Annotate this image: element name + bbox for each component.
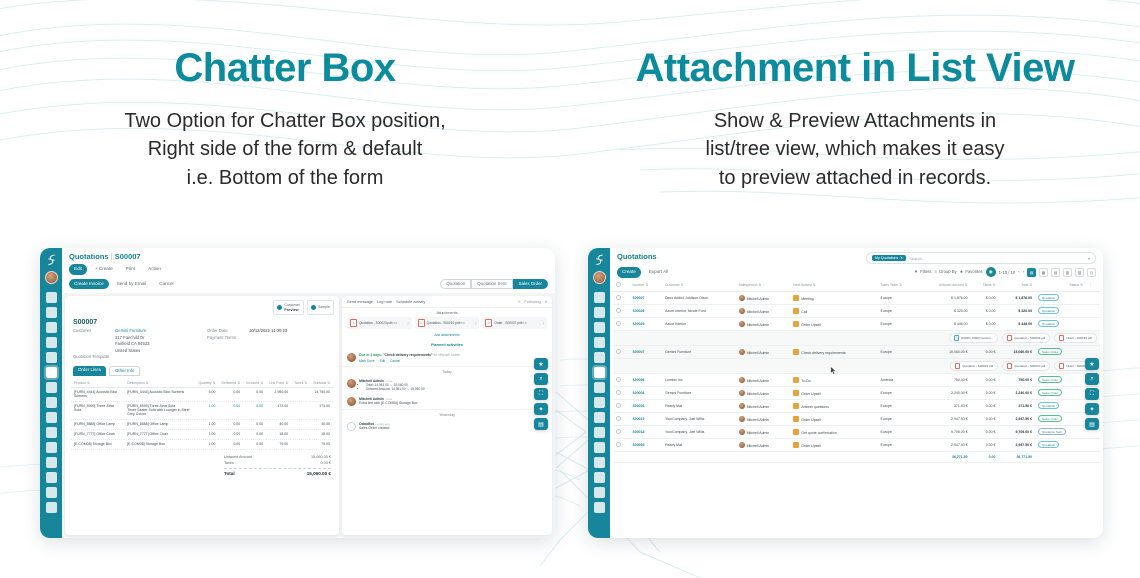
cell-untaxed-amount[interactable]: 2,947.50 € bbox=[918, 438, 970, 451]
cell-untaxed-amount[interactable]: 371.50 € bbox=[918, 399, 970, 412]
download-icon[interactable]: ⤓ bbox=[475, 321, 476, 325]
cell-invoiced[interactable]: 0.00 bbox=[243, 429, 266, 439]
stage-quotation-sent[interactable]: Quotation Sent bbox=[471, 279, 512, 289]
cell-sales-team[interactable]: Europe bbox=[877, 399, 918, 412]
heading-attachment-list-view: Attachment in List View Show & Preview A… bbox=[570, 0, 1140, 230]
cell-description[interactable]: [FURN_7777] Office Chair bbox=[124, 429, 195, 439]
create-button[interactable]: + Create bbox=[90, 264, 118, 275]
cell-next-activity[interactable]: Meeting bbox=[790, 291, 877, 304]
apps-icon[interactable]: ▤ bbox=[1085, 418, 1099, 430]
field-value[interactable]: Gemini Furniture bbox=[115, 328, 146, 333]
avatar[interactable] bbox=[45, 271, 58, 284]
avatar bbox=[739, 429, 745, 435]
cell-taxes[interactable]: 0.00 € bbox=[971, 386, 999, 399]
cell-salesperson[interactable]: Mitchell Admin bbox=[736, 399, 791, 412]
sidebar-item-sales[interactable] bbox=[46, 367, 57, 378]
cell-total[interactable]: 2,947.50 € bbox=[998, 412, 1035, 425]
cell-taxes[interactable]: 0.00 € bbox=[971, 399, 999, 412]
sidebar-item-manufacturing[interactable] bbox=[594, 412, 605, 423]
search-facet[interactable]: My Quotations ✕ bbox=[872, 255, 906, 261]
column-header-taxes[interactable]: Taxes ⇅ bbox=[291, 379, 310, 388]
cell-salesperson[interactable]: Mitchell Admin bbox=[736, 317, 791, 330]
cell-next-activity[interactable]: Call bbox=[790, 304, 877, 317]
cell-taxes[interactable] bbox=[291, 387, 310, 401]
cell-total[interactable]: $ 446.00 bbox=[998, 317, 1035, 330]
field-address-2: Fairfield CA 94533 bbox=[73, 341, 197, 346]
column-header-description[interactable]: Description ⇅ bbox=[124, 379, 195, 388]
cell-customer[interactable]: YourCompany, Joel Willis bbox=[662, 412, 736, 425]
field-quotation-template: Quotation Template bbox=[73, 354, 197, 359]
row-checkbox[interactable] bbox=[613, 399, 629, 412]
activity-icon bbox=[793, 377, 799, 383]
cell-next-activity[interactable]: To-Do bbox=[790, 373, 877, 386]
field-value[interactable]: 10/12/2022 11:00:23 bbox=[249, 328, 287, 333]
chatter-panel: Send message Log note Schedule activity … bbox=[342, 296, 552, 535]
cell-invoiced[interactable]: 0.00 bbox=[243, 439, 266, 449]
cell-salesperson[interactable]: Mitchell Admin bbox=[736, 425, 791, 438]
send-message-button[interactable]: Send message bbox=[347, 299, 373, 304]
graph-view-icon[interactable]: ▨ bbox=[1075, 268, 1084, 277]
cell-status[interactable]: Quotation bbox=[1035, 317, 1086, 330]
list-view-icon[interactable]: ▤ bbox=[1027, 268, 1036, 277]
column-header-status[interactable]: Status ⇅ bbox=[1035, 280, 1086, 292]
table-row[interactable]: [FURN_4444] Acoustic Bloc Screens[FURN_4… bbox=[71, 387, 333, 401]
status-badge: Quotation bbox=[1038, 402, 1059, 409]
cell-delivered[interactable]: 0.00 bbox=[218, 429, 243, 439]
sidebar-item-website[interactable] bbox=[594, 442, 605, 453]
column-header-salesperson[interactable]: Salesperson ⇅ bbox=[736, 280, 791, 292]
cell-untaxed-amount[interactable]: $ 1,876.00 bbox=[918, 291, 970, 304]
cell-sales-team[interactable]: Europe bbox=[877, 425, 918, 438]
search-icon[interactable]: ⌕ bbox=[534, 373, 548, 385]
column-header-taxes[interactable]: Taxes ⇅ bbox=[971, 280, 999, 292]
sidebar-item-purchase[interactable] bbox=[594, 427, 605, 438]
cell-product[interactable]: [FURN_7777] Office Chair bbox=[71, 429, 124, 439]
cell-invoiced[interactable]: 0.00 bbox=[243, 387, 266, 401]
attachment-chip[interactable]: [FURN_0096] Custom... bbox=[949, 333, 998, 343]
table-row[interactable]: S00025Azure InteriorMitchell AdminOrder … bbox=[613, 317, 1100, 330]
cell-status[interactable]: Quotation bbox=[1035, 304, 1086, 317]
cell-taxes[interactable] bbox=[291, 401, 310, 419]
sidebar-item-manufacturing[interactable] bbox=[46, 412, 57, 423]
activity-icon bbox=[793, 295, 799, 301]
app-sidebar-right[interactable] bbox=[588, 248, 610, 538]
table-row[interactable]: S00004Gemini FurnitureMitchell AdminOrde… bbox=[613, 386, 1100, 399]
favorites-button[interactable]: ★Favorites bbox=[960, 270, 983, 274]
sidebar-item-purchase[interactable] bbox=[46, 427, 57, 438]
cell-unit_price[interactable]: 173.00 bbox=[266, 401, 291, 419]
send-by-email-button[interactable]: Send by Email bbox=[112, 279, 152, 290]
cell-untaxed-amount[interactable]: 2,240.00 € bbox=[918, 386, 970, 399]
sidebar-item-calendar[interactable] bbox=[594, 322, 605, 333]
cell-untaxed-amount[interactable]: $ 320.00 bbox=[918, 304, 970, 317]
sidebar-item-invoicing[interactable] bbox=[46, 382, 57, 393]
cell-taxes[interactable]: 0.00 € bbox=[971, 425, 999, 438]
sidebar-item-discuss[interactable] bbox=[46, 307, 57, 318]
cell-product[interactable]: [FURN_4444] Acoustic Bloc Screens bbox=[71, 387, 124, 401]
create-invoice-button[interactable]: Create Invoice bbox=[69, 279, 109, 290]
cell-total[interactable]: $ 1,876.00 bbox=[998, 291, 1035, 304]
cell-customer[interactable]: Ready Mat bbox=[662, 438, 736, 451]
cell-invoiced[interactable]: 0.00 bbox=[243, 401, 266, 419]
table-row[interactable]: [FURN_8999] Three-Seat Sofa[FURN_8999] T… bbox=[71, 401, 333, 419]
pdf-icon bbox=[1007, 363, 1012, 369]
cell-total[interactable]: 15,060.00 € bbox=[998, 345, 1035, 358]
settings-icon[interactable]: ✦ bbox=[1085, 403, 1099, 415]
tab-order-lines[interactable]: Order Lines bbox=[73, 366, 106, 376]
sidebar-item-invoicing[interactable] bbox=[594, 382, 605, 393]
table-row[interactable]: [FURN_7777] Office Chair[FURN_7777] Offi… bbox=[71, 429, 333, 439]
cell-sales-team[interactable]: Europe bbox=[877, 291, 918, 304]
cell-number[interactable]: S00004 bbox=[629, 386, 662, 399]
settings-icon[interactable]: ✦ bbox=[534, 403, 548, 415]
cell-status[interactable]: Quotation bbox=[1035, 291, 1086, 304]
column-header-number[interactable]: Number ⇅ bbox=[629, 280, 662, 292]
schedule-activity-button[interactable]: Schedule activity bbox=[396, 299, 425, 304]
smart-button-label-2: Sample bbox=[318, 305, 330, 309]
pivot-view-icon[interactable]: ▥ bbox=[1063, 268, 1072, 277]
cell-product[interactable]: [E-COM08] Storage Box bbox=[71, 439, 124, 449]
table-row[interactable]: S00005Ready MatMitchell AdminOrder Upsel… bbox=[613, 438, 1100, 451]
attachment-item[interactable]: AQuotation - S00023.pdfPDF⤓ bbox=[347, 317, 412, 329]
cell-delivered[interactable]: 0.00 bbox=[218, 439, 243, 449]
cell-customer[interactable]: Gemini Furniture bbox=[662, 386, 736, 399]
sidebar-item-recruitment[interactable] bbox=[46, 472, 57, 483]
table-row[interactable]: S00003Ready MatMitchell AdminAnswer ques… bbox=[613, 399, 1100, 412]
cell-status[interactable]: Quotation bbox=[1035, 399, 1086, 412]
cell-salesperson[interactable]: Mitchell Admin bbox=[736, 373, 791, 386]
expand-icon[interactable]: ⛶ bbox=[534, 388, 548, 400]
cell-total[interactable]: 2,240.00 € bbox=[998, 386, 1035, 399]
cell-unit_price[interactable]: 79.00 bbox=[266, 439, 291, 449]
attachment-chip[interactable]: Quotation - S00023.pdf bbox=[950, 361, 998, 371]
field-label: Order Date bbox=[207, 328, 249, 333]
cell-customer[interactable]: YourCompany, Joel Willis bbox=[662, 425, 736, 438]
cell-next-activity[interactable]: Order Upsell bbox=[790, 438, 877, 451]
cell-quantity[interactable]: 5.00 bbox=[195, 387, 218, 401]
cell-number[interactable]: S00007 bbox=[629, 291, 662, 304]
cell-taxes[interactable]: $ 0.00 bbox=[971, 317, 999, 330]
sidebar-item-sales[interactable] bbox=[594, 367, 605, 378]
list-control-panel: Quotations My Quotations ✕ Search... ▾ C… bbox=[610, 248, 1103, 278]
cell-total[interactable]: 9,705.00 € bbox=[998, 425, 1035, 438]
form-notebook-tabs: Order Lines Other Info bbox=[65, 361, 339, 376]
cell-salesperson[interactable]: Mitchell Admin bbox=[736, 345, 791, 358]
sidebar-item-contacts[interactable] bbox=[594, 337, 605, 348]
following-button[interactable]: Following bbox=[524, 299, 540, 304]
export-all-button[interactable]: Export All bbox=[644, 267, 673, 278]
cell-number[interactable]: S00018 bbox=[629, 425, 662, 438]
chevron-down-icon[interactable]: ▾ bbox=[1088, 256, 1090, 261]
cell-number[interactable]: S00003 bbox=[629, 399, 662, 412]
attachment-chip-list: [FURN_0096] Custom...Quotation - S00023.… bbox=[616, 333, 1097, 343]
breadcrumb: Quotations | S00007 bbox=[69, 252, 548, 261]
cell-invoiced[interactable]: 0.00 bbox=[243, 419, 266, 429]
row-checkbox[interactable] bbox=[613, 291, 629, 304]
row-checkbox[interactable] bbox=[613, 304, 629, 317]
message-text: Sales Order created bbox=[359, 426, 390, 430]
row-checkbox[interactable] bbox=[613, 386, 629, 399]
sidebar-item-messages[interactable] bbox=[594, 292, 605, 303]
total-grand: Total 15,060.00 € bbox=[224, 468, 331, 477]
smart-button-row: Customer Preview Sample bbox=[65, 296, 339, 315]
table-row[interactable]: S00007Gemini FurnitureMitchell AdminChec… bbox=[613, 345, 1100, 358]
column-header-total[interactable]: Total ⇅ bbox=[998, 280, 1035, 292]
cell-unit_price[interactable]: 40.00 bbox=[266, 419, 291, 429]
table-row[interactable]: [E-COM08] Storage Box[E-COM08] Storage B… bbox=[71, 439, 333, 449]
cell-unit_price[interactable]: 18.00 bbox=[266, 429, 291, 439]
table-row[interactable]: S00026Azure Interior, Nicole FordMitchel… bbox=[613, 304, 1100, 317]
table-row[interactable]: S00007Deco Addict, Addison OlsonMitchell… bbox=[613, 291, 1100, 304]
sidebar-item-apps[interactable] bbox=[46, 487, 57, 498]
cell-total[interactable]: $ 320.00 bbox=[998, 304, 1035, 317]
cell-next-activity[interactable]: Order Upsell bbox=[790, 317, 877, 330]
sidebar-item-employees[interactable] bbox=[46, 457, 57, 468]
create-button[interactable]: Create bbox=[617, 267, 641, 278]
section-yesterday: Yesterday bbox=[342, 409, 552, 419]
cell-product[interactable]: [FURN_8999] Three-Seat Sofa bbox=[71, 401, 124, 419]
close-icon[interactable]: ✕ bbox=[900, 256, 903, 260]
cell-description[interactable]: [FURN_4444] Acoustic Bloc Screens bbox=[124, 387, 195, 401]
cell-product[interactable]: [FURN_8888] Office Lamp bbox=[71, 419, 124, 429]
cell-subtotal[interactable]: 79.00 bbox=[310, 439, 333, 449]
row-checkbox[interactable] bbox=[613, 317, 629, 330]
sidebar-item-contacts[interactable] bbox=[46, 337, 57, 348]
cell-taxes[interactable] bbox=[291, 419, 310, 429]
page-subtitle-left: Two Option for Chatter Box position, Rig… bbox=[0, 107, 570, 192]
column-header-customer[interactable]: Customer ⇅ bbox=[662, 280, 736, 292]
order-lines-table-wrap: Product ⇅Description ⇅Quantity ⇅Delivere… bbox=[65, 376, 339, 450]
star-icon[interactable]: ★ bbox=[534, 358, 548, 370]
table-row[interactable]: S00006Lumber IncMitchell AdminTo-DoAmeri… bbox=[613, 373, 1100, 386]
attachment-chip[interactable]: Quotation - S00010.pdf bbox=[1002, 361, 1050, 371]
pager-previous-button[interactable]: ‹ bbox=[1018, 270, 1019, 274]
star-icon[interactable]: ★ bbox=[1085, 358, 1099, 370]
expand-icon[interactable]: ⛶ bbox=[1085, 388, 1099, 400]
cell-number[interactable]: S00025 bbox=[629, 317, 662, 330]
mark-done-button[interactable]: Mark Done bbox=[359, 359, 375, 363]
cell-untaxed-amount[interactable]: 9,705.00 € bbox=[918, 425, 970, 438]
sidebar-item-inventory[interactable] bbox=[594, 397, 605, 408]
cell-untaxed-amount[interactable]: 15,060.00 € bbox=[918, 345, 970, 358]
avatar[interactable] bbox=[593, 271, 606, 284]
cell-customer[interactable]: Azure Interior, Nicole Ford bbox=[662, 304, 736, 317]
row-checkbox[interactable] bbox=[613, 438, 629, 451]
cell-number[interactable]: S00019 bbox=[629, 412, 662, 425]
attachment-chip[interactable]: Order - S00015.pdf bbox=[1054, 333, 1097, 343]
group-by-button[interactable]: ≡Group By bbox=[935, 270, 957, 274]
column-header-unit-price[interactable]: Unit Price ⇅ bbox=[266, 379, 291, 388]
kanban-view-icon[interactable]: ▦ bbox=[1039, 268, 1048, 277]
cell-salesperson[interactable]: Mitchell Admin bbox=[736, 386, 791, 399]
cell-untaxed-amount[interactable]: 2,947.50 € bbox=[918, 412, 970, 425]
cell-taxes[interactable]: $ 0.00 bbox=[971, 291, 999, 304]
cell-quantity[interactable]: 1.00 bbox=[195, 439, 218, 449]
cell-customer[interactable]: Lumber Inc bbox=[662, 373, 736, 386]
apps-icon[interactable]: ▤ bbox=[534, 418, 548, 430]
list-action-buttons: Create Export All ▼Filters ≡Group By ★Fa… bbox=[617, 267, 1096, 278]
cell-next-activity[interactable]: Check delivery requirements bbox=[790, 345, 877, 358]
cell-unit_price[interactable]: 2,950.00 bbox=[266, 387, 291, 401]
breadcrumb-root[interactable]: Quotations bbox=[69, 252, 109, 261]
sidebar-item-crm[interactable] bbox=[46, 352, 57, 363]
sidebar-item-calendar[interactable] bbox=[46, 322, 57, 333]
action-button[interactable]: Action bbox=[143, 264, 166, 275]
cell-quantity[interactable]: 1.00 bbox=[195, 419, 218, 429]
column-header-quantity[interactable]: Quantity ⇅ bbox=[195, 379, 218, 388]
download-icon[interactable]: ⤓ bbox=[543, 321, 544, 325]
cell-number[interactable]: S00005 bbox=[629, 438, 662, 451]
row-checkbox[interactable] bbox=[613, 345, 629, 358]
cell-status[interactable]: Sales Order bbox=[1035, 412, 1086, 425]
sidebar-item-settings[interactable] bbox=[594, 502, 605, 513]
cell-sales-team[interactable]: Europe bbox=[877, 317, 918, 330]
cell-taxes[interactable]: 0.00 € bbox=[971, 438, 999, 451]
cell-sales-team[interactable]: Europe bbox=[877, 438, 918, 451]
cell-subtotal[interactable]: 18.00 bbox=[310, 429, 333, 439]
column-header-invoiced[interactable]: Invoiced ⇅ bbox=[243, 379, 266, 388]
cell-sales-team[interactable]: Europe bbox=[877, 345, 918, 358]
sidebar-item-crm[interactable] bbox=[594, 352, 605, 363]
row-checkbox[interactable] bbox=[613, 373, 629, 386]
attachment-type: PDF bbox=[522, 321, 528, 325]
cell-customer[interactable]: Deco Addict, Addison Olson bbox=[662, 291, 736, 304]
cell-subtotal[interactable]: 14,750.00 bbox=[310, 387, 333, 401]
table-row[interactable]: S00018YourCompany, Joel WillisMitchell A… bbox=[613, 425, 1100, 438]
cell-taxes[interactable] bbox=[291, 429, 310, 439]
cell-total[interactable]: 2,947.50 € bbox=[998, 438, 1035, 451]
customer-preview-button[interactable]: Customer Preview bbox=[273, 300, 304, 315]
stage-quotation[interactable]: Quotation bbox=[440, 279, 471, 289]
activity-view-icon[interactable]: ◷ bbox=[1087, 268, 1096, 277]
sidebar-item-recruitment[interactable] bbox=[594, 472, 605, 483]
cell-next-activity[interactable]: Order Upsell bbox=[790, 412, 877, 425]
column-header-product[interactable]: Product ⇅ bbox=[71, 379, 124, 388]
row-checkbox[interactable] bbox=[613, 412, 629, 425]
edit-button[interactable]: Edit bbox=[69, 264, 87, 275]
select-all-checkbox[interactable] bbox=[613, 280, 629, 292]
cell-description[interactable]: [FURN_8888] Office Lamp bbox=[124, 419, 195, 429]
cell-status[interactable]: Sales Order bbox=[1035, 386, 1086, 399]
calendar-view-icon[interactable]: ▤ bbox=[1051, 268, 1060, 277]
column-header-next-activity[interactable]: Next Activity ⇅ bbox=[790, 280, 877, 292]
cell-total[interactable]: 750.00 € bbox=[998, 373, 1035, 386]
cell-number[interactable]: S00026 bbox=[629, 304, 662, 317]
cell-total[interactable]: 371.50 € bbox=[998, 399, 1035, 412]
cell-next-activity[interactable]: Order Upsell bbox=[790, 386, 877, 399]
cancel-button[interactable]: Cancel bbox=[154, 279, 178, 290]
sidebar-item-website[interactable] bbox=[46, 442, 57, 453]
cell-salesperson[interactable]: Mitchell Admin bbox=[736, 412, 791, 425]
cell-sales-team[interactable]: Europe bbox=[877, 412, 918, 425]
tab-other-info[interactable]: Other Info bbox=[109, 366, 141, 376]
attachment-chip[interactable]: Quotation - S00023.pdf bbox=[1002, 333, 1050, 343]
cell-sales-team[interactable]: America bbox=[877, 373, 918, 386]
cell-customer[interactable]: Gemini Furniture bbox=[662, 345, 736, 358]
column-header-untaxed-amount[interactable]: Untaxed Amount ⇅ bbox=[918, 280, 970, 292]
filters-button[interactable]: ▼Filters bbox=[914, 270, 932, 274]
table-row[interactable]: S00019YourCompany, Joel WillisMitchell A… bbox=[613, 412, 1100, 425]
attachment-item[interactable]: AOrder - S00007.pdfPDF⤓ bbox=[482, 317, 547, 329]
cell-status[interactable]: Sales Order bbox=[1035, 373, 1086, 386]
cell-taxes[interactable]: 0.00 € bbox=[971, 412, 999, 425]
cell-status[interactable]: Sales Order bbox=[1035, 345, 1086, 358]
row-checkbox[interactable] bbox=[613, 425, 629, 438]
cell-description[interactable]: [FURN_8999] Three-Seat Sofa Three Seater… bbox=[124, 401, 195, 419]
edit-activity-button[interactable]: Edit bbox=[380, 359, 386, 363]
cell-status[interactable]: Quotation Sent bbox=[1035, 425, 1086, 438]
odoo-logo-icon bbox=[592, 252, 607, 267]
cell-status[interactable]: Quotation bbox=[1035, 438, 1086, 451]
cell-next-activity[interactable]: Answer questions bbox=[790, 399, 877, 412]
followers-count[interactable]: 0 bbox=[545, 299, 547, 304]
cell-taxes[interactable]: 0.00 € bbox=[971, 345, 999, 358]
cancel-activity-button[interactable]: Cancel bbox=[390, 359, 400, 363]
stage-sales-order[interactable]: Sales Order bbox=[513, 279, 548, 289]
cell-salesperson[interactable]: Mitchell Admin bbox=[736, 438, 791, 451]
cell-untaxed-amount[interactable]: 750.00 € bbox=[918, 373, 970, 386]
log-note-button[interactable]: Log note bbox=[377, 299, 392, 304]
app-sidebar-left[interactable] bbox=[40, 248, 62, 538]
cell-delivered[interactable]: 0.00 bbox=[218, 419, 243, 429]
column-header-sales-team[interactable]: Sales Team ⇅ bbox=[877, 280, 918, 292]
sidebar-item-settings[interactable] bbox=[46, 502, 57, 513]
total-label: Untaxed Amount bbox=[224, 455, 252, 459]
cell-taxes[interactable]: $ 0.00 bbox=[971, 304, 999, 317]
cell-description[interactable]: [E-COM08] Storage Box bbox=[124, 439, 195, 449]
add-attachments-button[interactable]: Add attachments bbox=[342, 329, 552, 339]
column-options-icon[interactable]: ⋮ bbox=[1086, 280, 1100, 292]
cell-taxes[interactable] bbox=[291, 439, 310, 449]
sidebar-item-apps[interactable] bbox=[594, 487, 605, 498]
search-input[interactable]: My Quotations ✕ Search... ▾ bbox=[866, 252, 1096, 264]
cell-quantity[interactable]: 1.00 bbox=[195, 401, 218, 419]
cell-salesperson[interactable]: Mitchell Admin bbox=[736, 304, 791, 317]
sample-button[interactable]: Sample bbox=[307, 300, 334, 315]
search-icon[interactable]: ⌕ bbox=[1085, 373, 1099, 385]
cell-number[interactable]: S00007 bbox=[629, 345, 662, 358]
cell-subtotal[interactable]: 40.00 bbox=[310, 419, 333, 429]
cell-sales-team[interactable]: Europe bbox=[877, 304, 918, 317]
cell-sales-team[interactable]: Europe bbox=[877, 386, 918, 399]
sidebar-item-employees[interactable] bbox=[594, 457, 605, 468]
column-header-delivered[interactable]: Delivered ⇅ bbox=[218, 379, 243, 388]
cell-customer[interactable]: Ready Mat bbox=[662, 399, 736, 412]
cell-subtotal[interactable]: 173.00 bbox=[310, 401, 333, 419]
sidebar-item-discuss[interactable] bbox=[594, 307, 605, 318]
cell-quantity[interactable]: 1.00 bbox=[195, 429, 218, 439]
avatar bbox=[739, 321, 745, 327]
attachment-item[interactable]: AQuotation - S00010.pdfPDF⤓ bbox=[415, 317, 480, 329]
cell-salesperson[interactable]: Mitchell Admin bbox=[736, 291, 791, 304]
attachment-toggle-icon[interactable]: ◉ bbox=[986, 267, 996, 277]
cell-delivered[interactable]: 0.00 bbox=[218, 401, 243, 419]
cell-untaxed-amount[interactable]: $ 446.00 bbox=[918, 317, 970, 330]
print-button[interactable]: Print bbox=[121, 264, 140, 275]
status-badge: Quotation bbox=[1038, 320, 1059, 327]
download-icon[interactable]: ⤓ bbox=[407, 321, 408, 325]
cell-taxes[interactable]: 0.00 € bbox=[971, 373, 999, 386]
cell-customer[interactable]: Azure Interior bbox=[662, 317, 736, 330]
column-header-subtotal[interactable]: Subtotal ⇅ bbox=[310, 379, 333, 388]
sidebar-item-messages[interactable] bbox=[46, 292, 57, 303]
cell-next-activity[interactable]: Get quote confirmation bbox=[790, 425, 877, 438]
cell-number[interactable]: S00006 bbox=[629, 373, 662, 386]
sidebar-item-inventory[interactable] bbox=[46, 397, 57, 408]
table-row[interactable]: [FURN_8888] Office Lamp[FURN_8888] Offic… bbox=[71, 419, 333, 429]
pager-next-button[interactable]: › bbox=[1023, 270, 1024, 274]
cell-delivered[interactable]: 0.00 bbox=[218, 387, 243, 401]
